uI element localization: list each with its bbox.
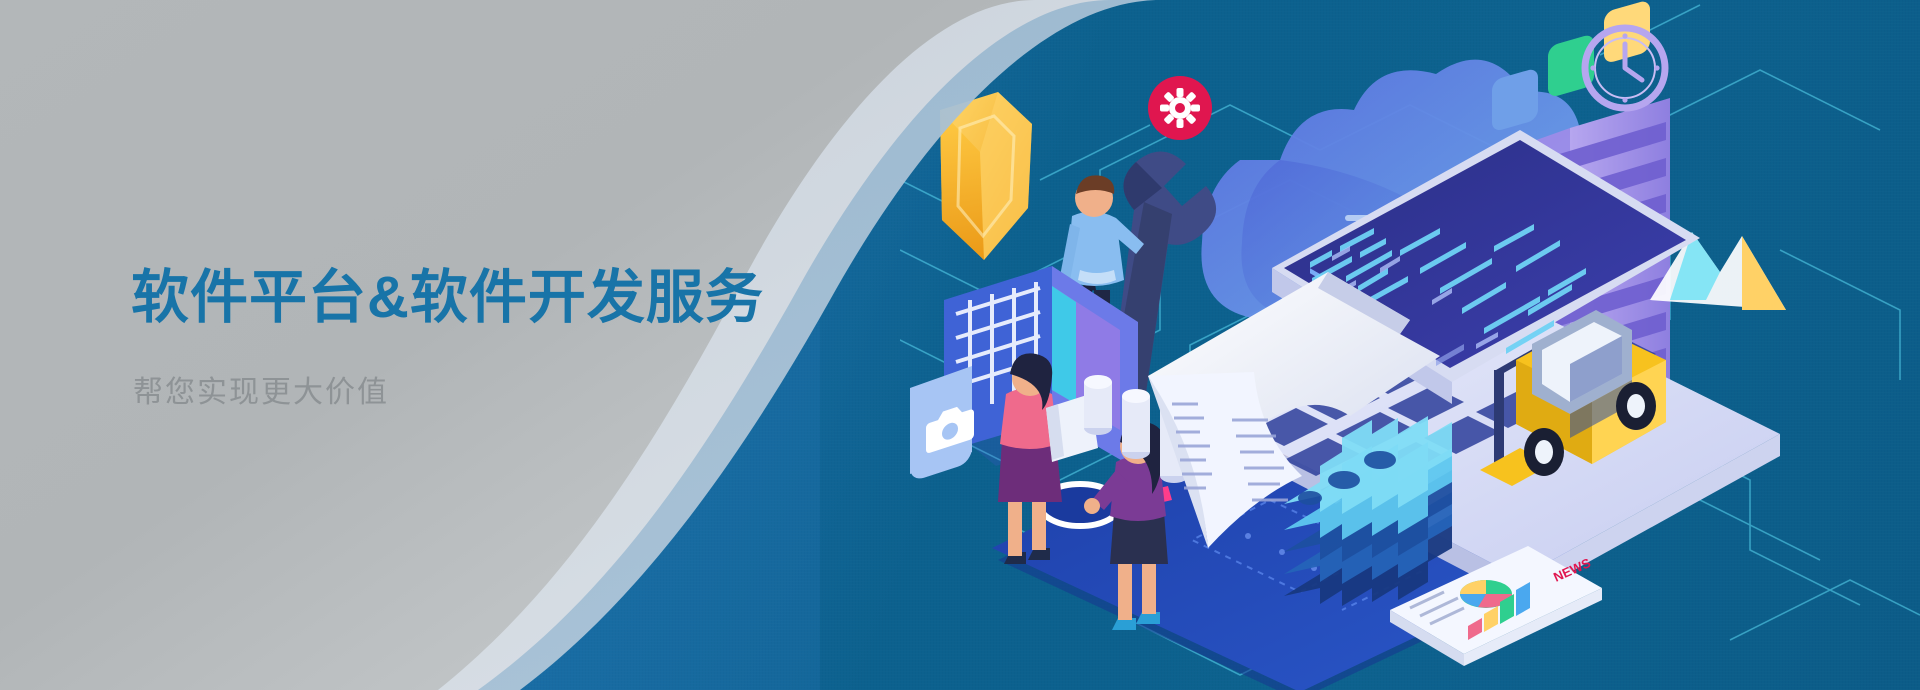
hero-banner: NEWS [0,0,1920,690]
page-title: 软件平台&软件开发服务 [131,262,764,335]
page-subtitle: 帮您实现更大价值 [133,373,389,412]
grey-curved-panel [0,0,1160,690]
